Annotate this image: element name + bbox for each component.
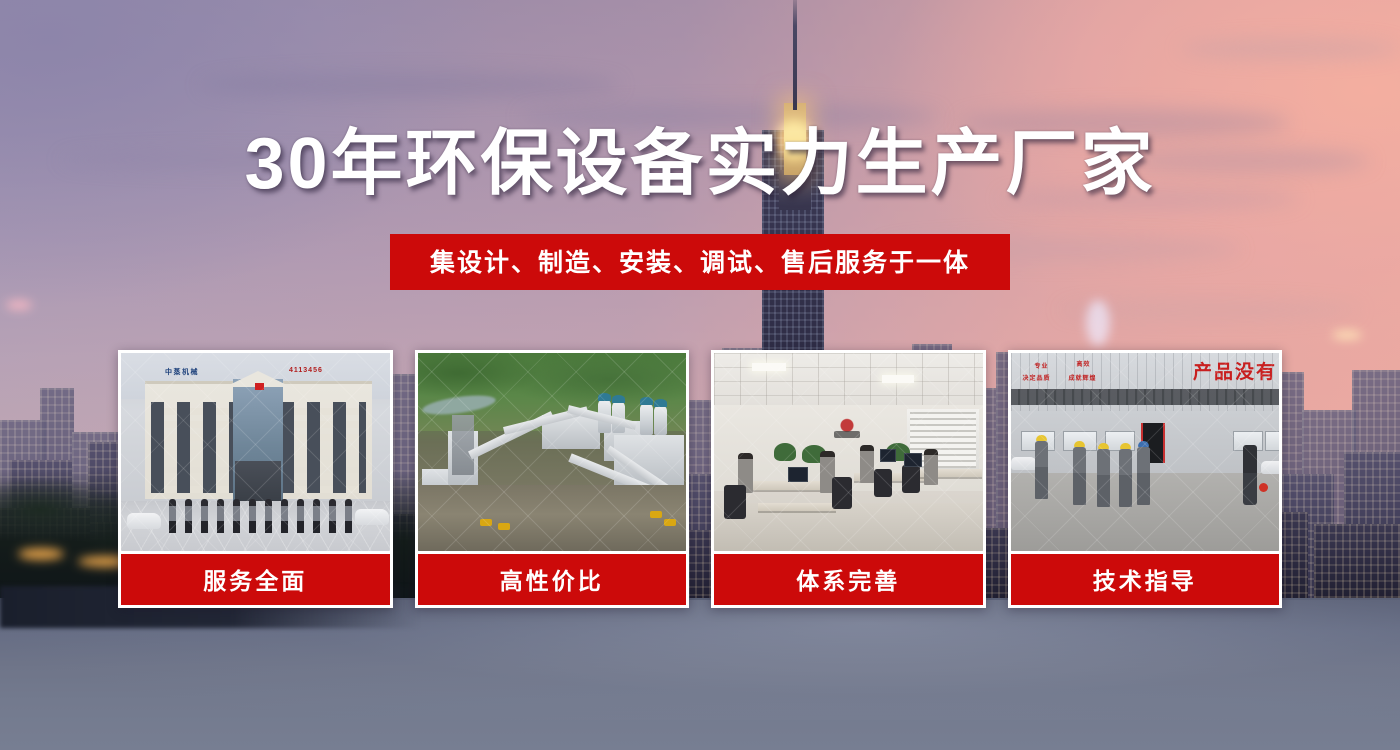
feature-card-row: 中蒸机械 4113456 bbox=[118, 350, 1282, 608]
card-photo-office-interior bbox=[714, 353, 983, 551]
card-photo-factory-workers: 产品没有 专业 决定品质 高效 成就辉煌 bbox=[1011, 353, 1280, 551]
feature-card[interactable]: 高性价比 bbox=[415, 350, 690, 608]
hero-banner: 30年环保设备实力生产厂家 集设计、制造、安装、调试、售后服务于一体 中蒸机械 … bbox=[0, 0, 1400, 750]
card-label: 体系完善 bbox=[714, 554, 983, 605]
factory-wall-slogan-small-3: 决定品质 bbox=[1023, 375, 1051, 383]
subtitle-banner: 集设计、制造、安装、调试、售后服务于一体 bbox=[390, 234, 1010, 290]
building-phone-number: 4113456 bbox=[289, 367, 323, 374]
factory-wall-slogan: 产品没有 bbox=[1193, 357, 1277, 384]
feature-card[interactable]: 中蒸机械 4113456 bbox=[118, 350, 393, 608]
card-photo-industrial-plant bbox=[418, 353, 687, 551]
factory-wall-slogan-small-4: 成就辉煌 bbox=[1069, 375, 1097, 383]
card-photo-office-building: 中蒸机械 4113456 bbox=[121, 353, 390, 551]
card-label: 服务全面 bbox=[121, 554, 390, 605]
feature-card[interactable]: 体系完善 bbox=[711, 350, 986, 608]
feature-card[interactable]: 产品没有 专业 决定品质 高效 成就辉煌 bbox=[1008, 350, 1283, 608]
page-title: 30年环保设备实力生产厂家 bbox=[0, 128, 1400, 200]
building-company-sign: 中蒸机械 bbox=[165, 367, 199, 377]
card-label: 技术指导 bbox=[1011, 554, 1280, 605]
factory-wall-slogan-small-2: 高效 bbox=[1077, 361, 1091, 369]
factory-wall-slogan-small-1: 专业 bbox=[1035, 363, 1049, 371]
card-label: 高性价比 bbox=[418, 554, 687, 605]
office-wall-logo bbox=[830, 415, 864, 441]
